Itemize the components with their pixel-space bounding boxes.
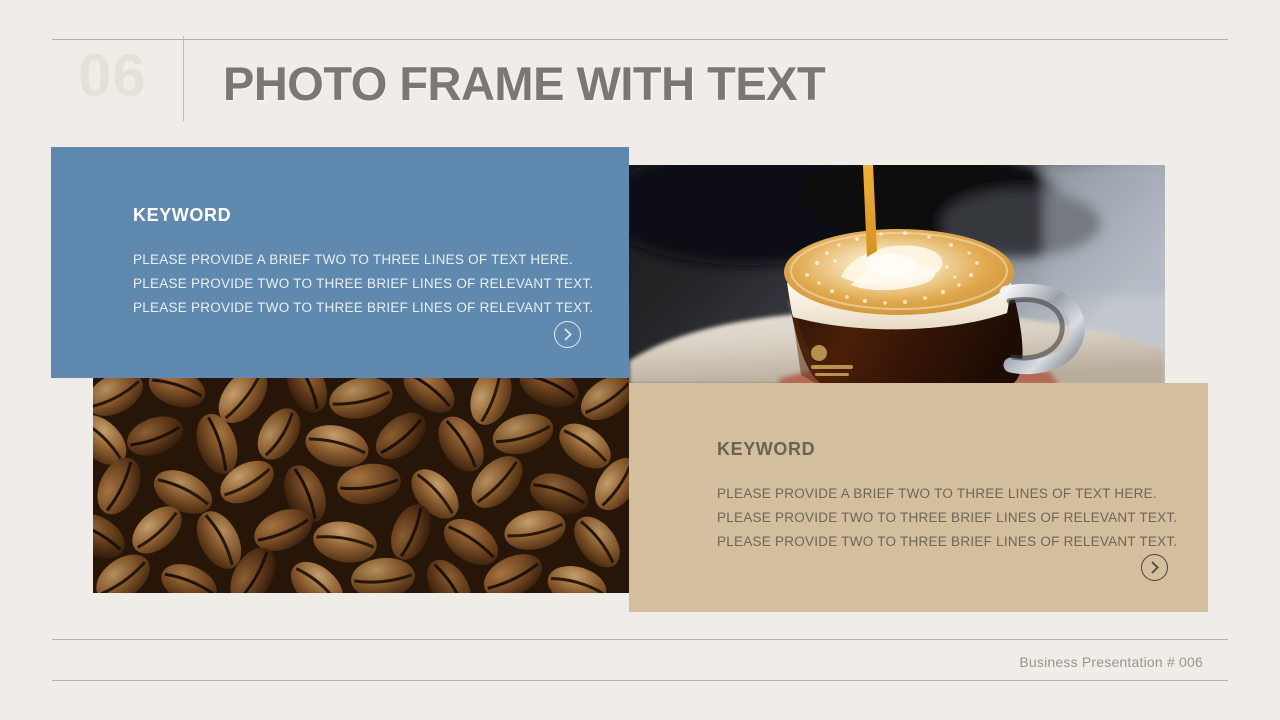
chevron-right-icon xyxy=(1149,561,1161,574)
chevron-right-icon xyxy=(562,328,574,341)
footer-rule-top xyxy=(52,639,1228,640)
coffee-beans-illustration xyxy=(93,378,629,593)
coffee-beans-photo xyxy=(93,378,629,593)
slide-number: 06 xyxy=(78,46,147,106)
blue-text-card: KEYWORD PLEASE PROVIDE A BRIEF TWO TO TH… xyxy=(51,147,629,378)
blue-card-body: PLEASE PROVIDE A BRIEF TWO TO THREE LINE… xyxy=(133,248,593,320)
footer-rule-bottom xyxy=(52,680,1228,681)
beige-card-line-1: PLEASE PROVIDE A BRIEF TWO TO THREE LINE… xyxy=(717,482,1177,506)
blue-card-line-3: PLEASE PROVIDE TWO TO THREE BRIEF LINES … xyxy=(133,296,593,320)
beige-card-keyword: KEYWORD xyxy=(717,439,815,460)
header-vertical-divider xyxy=(183,36,184,121)
beige-card-line-2: PLEASE PROVIDE TWO TO THREE BRIEF LINES … xyxy=(717,506,1177,530)
coffee-cup-illustration xyxy=(629,165,1165,385)
slide-canvas: 06 PHOTO FRAME WITH TEXT KEYWORD PLEASE … xyxy=(0,0,1280,720)
beige-card-body: PLEASE PROVIDE A BRIEF TWO TO THREE LINE… xyxy=(717,482,1177,554)
blue-card-line-2: PLEASE PROVIDE TWO TO THREE BRIEF LINES … xyxy=(133,272,593,296)
blue-card-keyword: KEYWORD xyxy=(133,205,231,226)
beige-card-next-button[interactable] xyxy=(1141,554,1168,581)
footer-label: Business Presentation # 006 xyxy=(1019,654,1203,670)
coffee-cup-photo xyxy=(629,165,1165,385)
blue-card-next-button[interactable] xyxy=(554,321,581,348)
blue-card-line-1: PLEASE PROVIDE A BRIEF TWO TO THREE LINE… xyxy=(133,248,593,272)
beige-card-line-3: PLEASE PROVIDE TWO TO THREE BRIEF LINES … xyxy=(717,530,1177,554)
page-title: PHOTO FRAME WITH TEXT xyxy=(223,57,825,111)
beige-text-card: KEYWORD PLEASE PROVIDE A BRIEF TWO TO TH… xyxy=(629,383,1208,612)
header-divider-line xyxy=(52,39,1228,40)
